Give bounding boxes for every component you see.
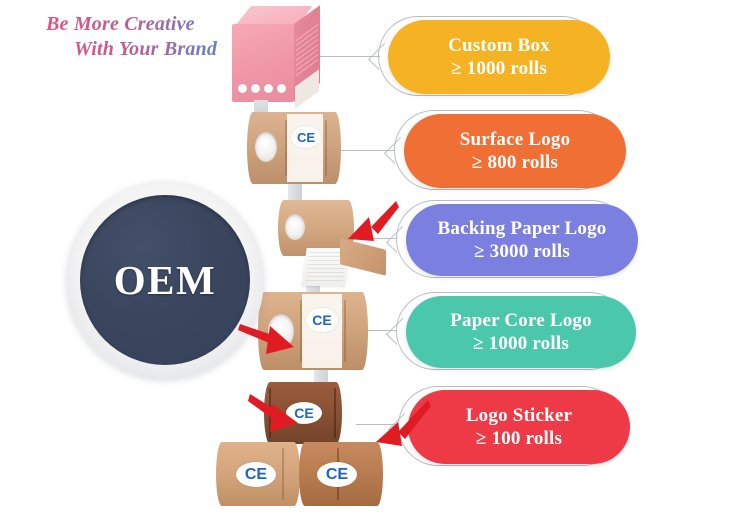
tagline-line-1: Be More Creative	[46, 12, 276, 37]
oem-badge-disc: OEM	[80, 195, 250, 365]
box-front-dots	[238, 80, 290, 92]
ce-text: CE	[245, 466, 267, 484]
option-quantity-5: ≥ 100 rolls	[476, 427, 562, 450]
product-surface-logo-roll: CE	[247, 112, 341, 184]
ce-mark: CE	[306, 308, 338, 332]
ce-sticker: CE	[236, 462, 276, 487]
option-pill-surface-logo[interactable]: Surface Logo ≥ 800 rolls	[404, 114, 626, 188]
option-quantity-4: ≥ 1000 rolls	[473, 332, 569, 355]
roll-core-hole	[285, 214, 305, 240]
ce-text: CE	[326, 466, 348, 484]
option-quantity-3: ≥ 3000 rolls	[474, 240, 570, 263]
ce-mark: CE	[291, 126, 321, 148]
option-quantity-2: ≥ 800 rolls	[472, 151, 558, 174]
ce-text: CE	[312, 312, 331, 328]
roll-core-hole	[255, 132, 277, 162]
option-title-4: Paper Core Logo	[450, 309, 592, 332]
roll-white-band	[287, 114, 323, 182]
box-side-stripes	[296, 32, 318, 76]
option-pill-custom-box[interactable]: Custom Box ≥ 1000 rolls	[388, 20, 610, 94]
option-quantity-1: ≥ 1000 rolls	[451, 57, 547, 80]
roll-perforation	[334, 388, 336, 438]
roll-perforation	[325, 120, 327, 176]
oem-label: OEM	[114, 256, 216, 304]
option-pill-paper-core-logo[interactable]: Paper Core Logo ≥ 1000 rolls	[406, 296, 636, 368]
ce-sticker: CE	[317, 462, 357, 487]
infographic-canvas: Be More Creative With Your Brand Custom …	[0, 0, 730, 523]
roll-perforation	[285, 120, 287, 176]
tagline: Be More Creative With Your Brand	[46, 12, 276, 62]
option-title-2: Surface Logo	[460, 128, 571, 151]
oem-badge[interactable]: OEM	[66, 181, 264, 379]
roll-perforation	[282, 448, 284, 500]
option-title-1: Custom Box	[448, 34, 550, 57]
arrow-paper-core	[238, 320, 308, 360]
option-title-3: Backing Paper Logo	[438, 217, 607, 240]
sticker-roll-left: CE	[216, 442, 300, 506]
option-title-5: Logo Sticker	[466, 404, 572, 427]
arrow-logo-sticker-right	[370, 398, 432, 458]
option-pill-backing-paper-logo[interactable]: Backing Paper Logo ≥ 3000 rolls	[406, 204, 638, 276]
option-pill-logo-sticker[interactable]: Logo Sticker ≥ 100 rolls	[408, 390, 630, 464]
tagline-line-2: With Your Brand	[46, 37, 276, 62]
roll-perforation	[344, 300, 346, 362]
arrow-logo-sticker-top	[248, 392, 306, 440]
product-logo-sticker-rolls: CE CE CE	[216, 382, 396, 518]
arrow-backing-paper	[338, 198, 400, 254]
ce-text: CE	[297, 130, 315, 145]
